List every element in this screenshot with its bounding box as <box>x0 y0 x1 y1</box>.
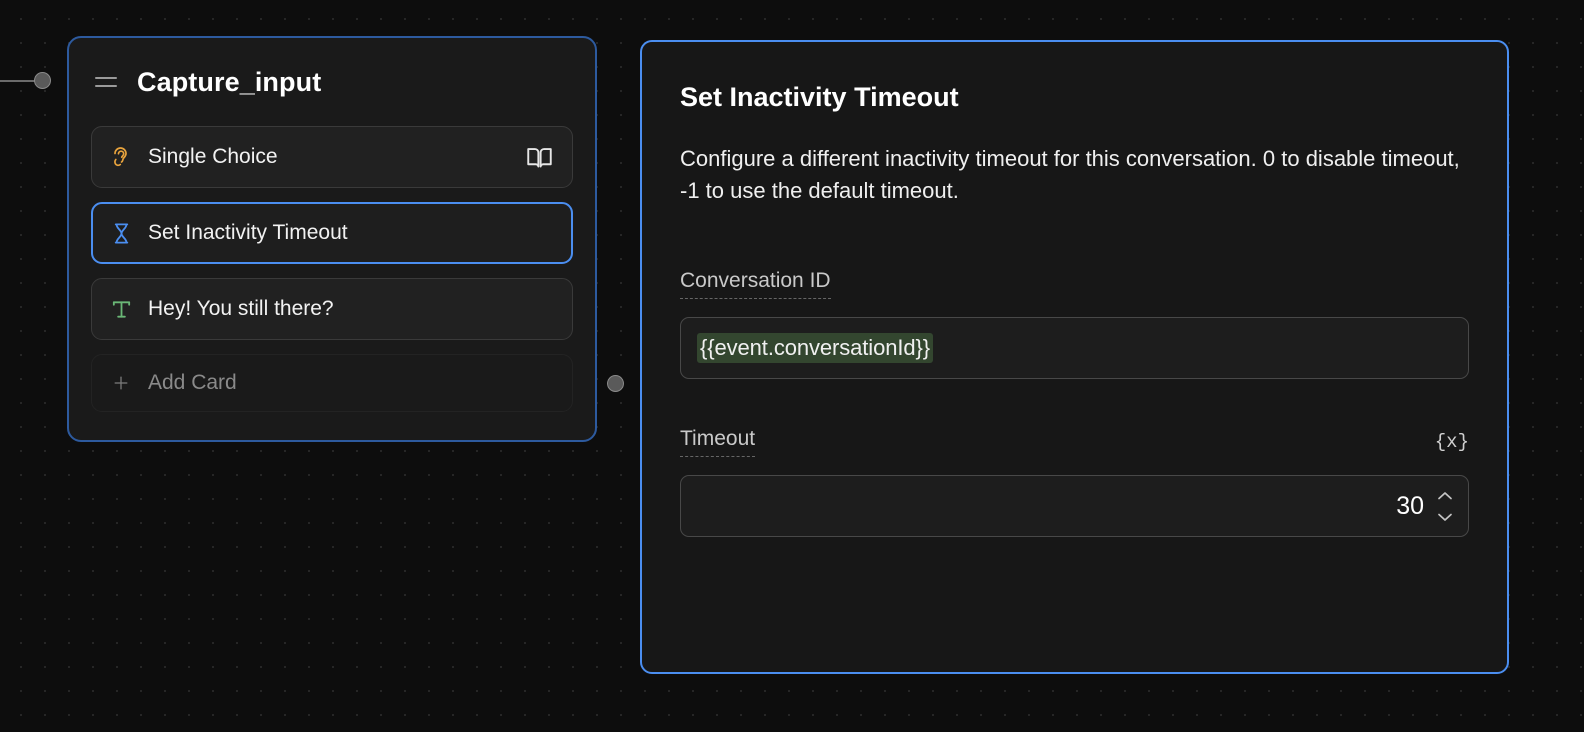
card-text-message[interactable]: Hey! You still there? <box>91 278 573 340</box>
text-t-icon <box>108 296 134 322</box>
hourglass-icon <box>108 220 134 246</box>
field-header: Conversation ID <box>680 269 1469 299</box>
card-detail-panel: Set Inactivity Timeout Configure a diffe… <box>640 40 1509 674</box>
panel-description: Configure a different inactivity timeout… <box>680 143 1469 207</box>
panel-title: Set Inactivity Timeout <box>680 82 1469 113</box>
card-single-choice[interactable]: Single Choice <box>91 126 573 188</box>
book-icon[interactable] <box>524 142 554 172</box>
timeout-number-input[interactable]: 30 <box>680 475 1469 537</box>
card-label: Single Choice <box>148 145 510 169</box>
field-timeout: Timeout {x} 30 <box>680 427 1469 537</box>
incoming-edge <box>0 80 36 82</box>
card-set-inactivity-timeout[interactable]: Set Inactivity Timeout <box>91 202 573 264</box>
field-label: Timeout <box>680 427 755 457</box>
conversation-id-input[interactable]: {{event.conversationId}} <box>680 317 1469 379</box>
number-stepper[interactable] <box>1436 490 1454 523</box>
field-conversation-id: Conversation ID {{event.conversationId}} <box>680 269 1469 379</box>
node-title: Capture_input <box>137 67 321 98</box>
field-spacer <box>680 379 1469 427</box>
input-connection-handle[interactable] <box>34 72 51 89</box>
add-card-label: Add Card <box>148 371 237 395</box>
stepper-decrement-icon[interactable] <box>1436 511 1454 523</box>
card-label: Hey! You still there? <box>148 297 554 321</box>
variable-toggle-icon[interactable]: {x} <box>1435 427 1469 453</box>
plus-icon <box>108 370 134 396</box>
timeout-value: 30 <box>1396 492 1424 521</box>
template-variable-token: {{event.conversationId}} <box>697 333 933 363</box>
node-header: Capture_input <box>91 38 573 126</box>
field-header: Timeout {x} <box>680 427 1469 457</box>
field-label: Conversation ID <box>680 269 831 299</box>
drag-handle-icon[interactable] <box>95 77 117 87</box>
output-connection-handle[interactable] <box>607 375 624 392</box>
card-label: Set Inactivity Timeout <box>148 221 554 245</box>
flow-node-capture-input[interactable]: Capture_input Single Choice <box>67 36 597 442</box>
stepper-increment-icon[interactable] <box>1436 490 1454 502</box>
add-card-button[interactable]: Add Card <box>91 354 573 412</box>
ear-icon <box>108 144 134 170</box>
